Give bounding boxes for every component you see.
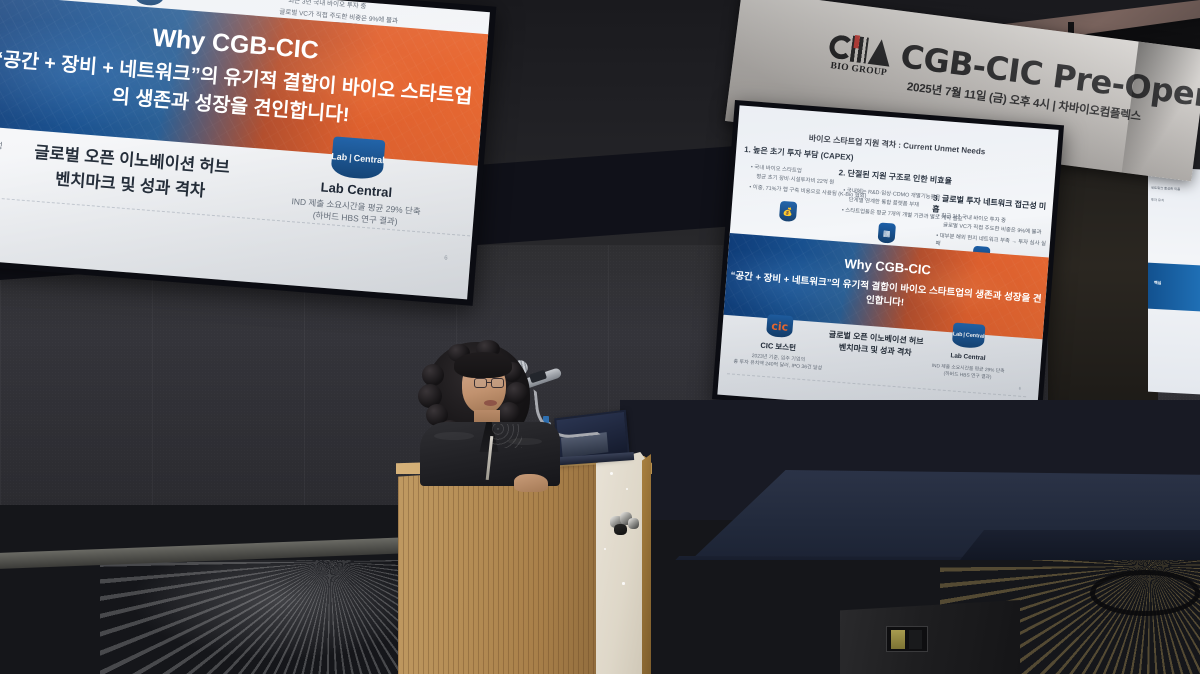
screen-3-partial: 네트워크 활성화 미흡 투자 유치 핵심	[1148, 167, 1200, 395]
screen3-band: 핵심	[1148, 263, 1200, 312]
cic-logo-icon: cic	[766, 314, 794, 338]
slide-r-lab-sub: IND 제출 소요시간을 평균 29% 단축 (하버드 HBS 연구 결과)	[917, 363, 1018, 385]
presenter-at-podium	[418, 338, 548, 478]
slide-r-col2-title: 2. 단절된 지원 구조로 인한 비효율	[838, 167, 952, 187]
screen3-line1: 네트워크 활성화 미흡	[1151, 185, 1180, 192]
lab-central-logo-icon: Lab | Central	[330, 136, 385, 180]
lectern-wood-front	[398, 464, 604, 674]
slide-l-mid-head: 글로벌 오픈 이노베이션 허브 벤치마크 및 성과 격차	[14, 139, 247, 207]
badge-network-blocks-icon-r: ▦	[877, 222, 895, 243]
screen3-band-word: 핵심	[1154, 280, 1161, 286]
carpet-light-reflection	[130, 560, 430, 660]
lab-logo-b: Central	[353, 153, 385, 165]
badge-money-bag-icon: 💰	[779, 201, 797, 222]
projection-screen-right: 바이오 스타트업 지원 격차 : Current Unmet Needs 1. …	[712, 100, 1064, 424]
slide-r-col1-title: 1. 높은 초기 투자 부담 (CAPEX)	[744, 144, 854, 163]
lectern-corner-trim	[642, 454, 651, 674]
lectern-side-panel	[596, 452, 650, 674]
lab-central-logo-icon-r: Lab | Central	[952, 322, 986, 348]
speaker-port-icon	[886, 626, 928, 652]
presenter-hand	[514, 474, 548, 492]
cic-logo-text: cic	[771, 319, 789, 333]
right-wall-column	[1048, 150, 1158, 440]
slide-r-page-number: 6	[1019, 386, 1022, 391]
lab-logo-a: Lab	[331, 151, 348, 162]
slide-right: 바이오 스타트업 지원 격차 : Current Unmet Needs 1. …	[717, 105, 1058, 419]
slide-r-cic-sub: 2023년 기준, 입주 기업의 총 투자 유치액 240억 달러, IPO 3…	[718, 350, 839, 374]
projection-screen-left: 최근 3년 국내 바이오 투자 중 글로벌 VC가 직접 주도한 비중은 9%에…	[0, 0, 496, 306]
coiled-cable	[1090, 570, 1200, 616]
presenter-fringe	[454, 352, 512, 378]
lectern-crest-emblem-icon	[608, 510, 642, 538]
conference-hall-photo: 네트워크 활성화 미흡 투자 유치 핵심 BIO GROUP CGB-CIC P…	[0, 0, 1200, 674]
presenter-mouth	[484, 400, 497, 406]
slide-r-mid-head: 글로벌 오픈 이노베이션 허브 벤치마크 및 성과 격차	[817, 328, 934, 361]
slide-left: 최근 3년 국내 바이오 투자 중 글로벌 VC가 직접 주도한 비중은 9%에…	[0, 0, 490, 299]
slide-r-lab-name: Lab Central	[933, 351, 1003, 363]
floor-monitor-speaker	[840, 600, 1020, 674]
stage-step-right-1	[960, 530, 1200, 560]
screen3-line2: 투자 유치	[1151, 197, 1164, 203]
presenter-shoulder-detail	[492, 424, 522, 448]
eyeglasses-icon	[474, 378, 508, 389]
slide-l-page-number: 6	[444, 255, 448, 261]
